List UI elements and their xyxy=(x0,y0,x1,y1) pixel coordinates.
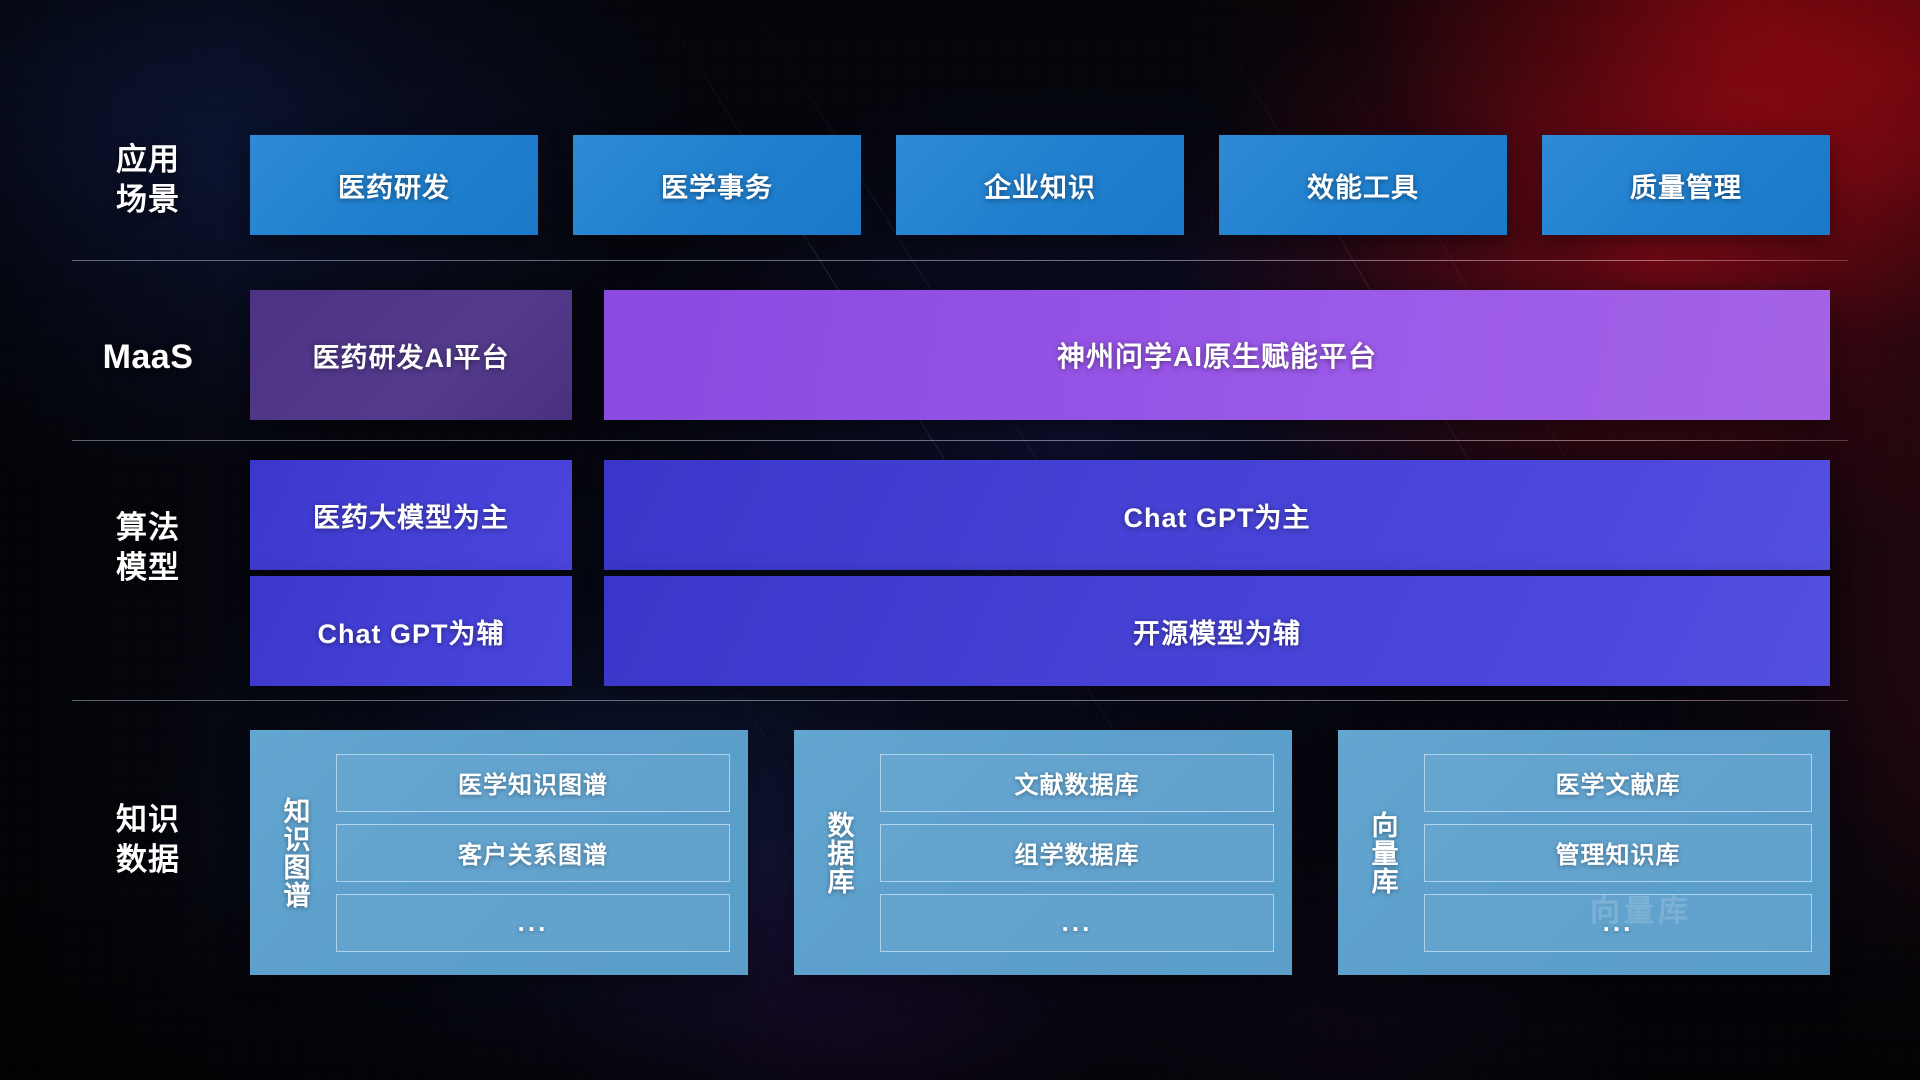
alg-box-pharma-large-model-primary[interactable]: 医药大模型为主 xyxy=(250,460,572,570)
divider-algorithm-knowledge xyxy=(72,700,1848,701)
knowledge-panel-vector-items: 医学文献库 管理知识库 ... xyxy=(1424,744,1816,961)
alg-box-opensource-secondary[interactable]: 开源模型为辅 xyxy=(604,576,1830,686)
knowledge-item-omics-db[interactable]: 组学数据库 xyxy=(880,824,1274,882)
maas-box-shenzhou-platform[interactable]: 神州问学AI原生赋能平台 xyxy=(604,290,1830,420)
row-label-algorithm-line2: 模型 xyxy=(78,548,218,588)
knowledge-panel-database[interactable]: 数据库 文献数据库 组学数据库 ... xyxy=(794,730,1292,975)
knowledge-item-vector-more[interactable]: ... xyxy=(1424,894,1812,952)
app-box-medical-affairs[interactable]: 医学事务 xyxy=(573,135,861,235)
divider-application-maas xyxy=(72,260,1848,261)
row-label-knowledge-line2: 数据 xyxy=(78,840,218,880)
app-box-efficiency-tools[interactable]: 效能工具 xyxy=(1219,135,1507,235)
row-label-algorithm: 算法 模型 xyxy=(78,508,218,588)
row-label-knowledge: 知识 数据 xyxy=(78,800,218,880)
knowledge-item-literature-db[interactable]: 文献数据库 xyxy=(880,754,1274,812)
app-box-pharma-rd[interactable]: 医药研发 xyxy=(250,135,538,235)
knowledge-panel-database-title: 数据库 xyxy=(810,744,866,961)
row-label-application: 应用 场景 xyxy=(78,140,218,220)
row-label-knowledge-line1: 知识 xyxy=(78,800,218,840)
alg-box-chatgpt-secondary[interactable]: Chat GPT为辅 xyxy=(250,576,572,686)
app-box-quality-management[interactable]: 质量管理 xyxy=(1542,135,1830,235)
diagram-canvas: 应用 场景 医药研发 医学事务 企业知识 效能工具 质量管理 MaaS 医药研发… xyxy=(0,0,1920,1080)
knowledge-item-management-kb[interactable]: 管理知识库 xyxy=(1424,824,1812,882)
knowledge-panel-database-items: 文献数据库 组学数据库 ... xyxy=(880,744,1278,961)
knowledge-item-customer-graph[interactable]: 客户关系图谱 xyxy=(336,824,730,882)
maas-box-pharma-ai-platform[interactable]: 医药研发AI平台 xyxy=(250,290,572,420)
knowledge-item-medical-graph[interactable]: 医学知识图谱 xyxy=(336,754,730,812)
knowledge-panel-vector-title: 向量库 xyxy=(1354,744,1410,961)
row-label-maas: MaaS xyxy=(78,337,218,377)
diagram-content: 应用 场景 医药研发 医学事务 企业知识 效能工具 质量管理 MaaS 医药研发… xyxy=(0,0,1920,1080)
knowledge-panel-vector[interactable]: 向量库 医学文献库 管理知识库 ... xyxy=(1338,730,1830,975)
row-label-algorithm-line1: 算法 xyxy=(78,508,218,548)
knowledge-panel-graph-items: 医学知识图谱 客户关系图谱 ... xyxy=(336,744,734,961)
knowledge-item-database-more[interactable]: ... xyxy=(880,894,1274,952)
row-label-application-line1: 应用 xyxy=(78,140,218,180)
knowledge-panel-graph-title: 知识图谱 xyxy=(266,744,322,961)
alg-box-chatgpt-primary[interactable]: Chat GPT为主 xyxy=(604,460,1830,570)
row-label-application-line2: 场景 xyxy=(78,180,218,220)
knowledge-item-graph-more[interactable]: ... xyxy=(336,894,730,952)
app-box-enterprise-knowledge[interactable]: 企业知识 xyxy=(896,135,1184,235)
knowledge-item-medical-literature[interactable]: 医学文献库 xyxy=(1424,754,1812,812)
divider-maas-algorithm xyxy=(72,440,1848,441)
knowledge-panel-graph[interactable]: 知识图谱 医学知识图谱 客户关系图谱 ... xyxy=(250,730,748,975)
